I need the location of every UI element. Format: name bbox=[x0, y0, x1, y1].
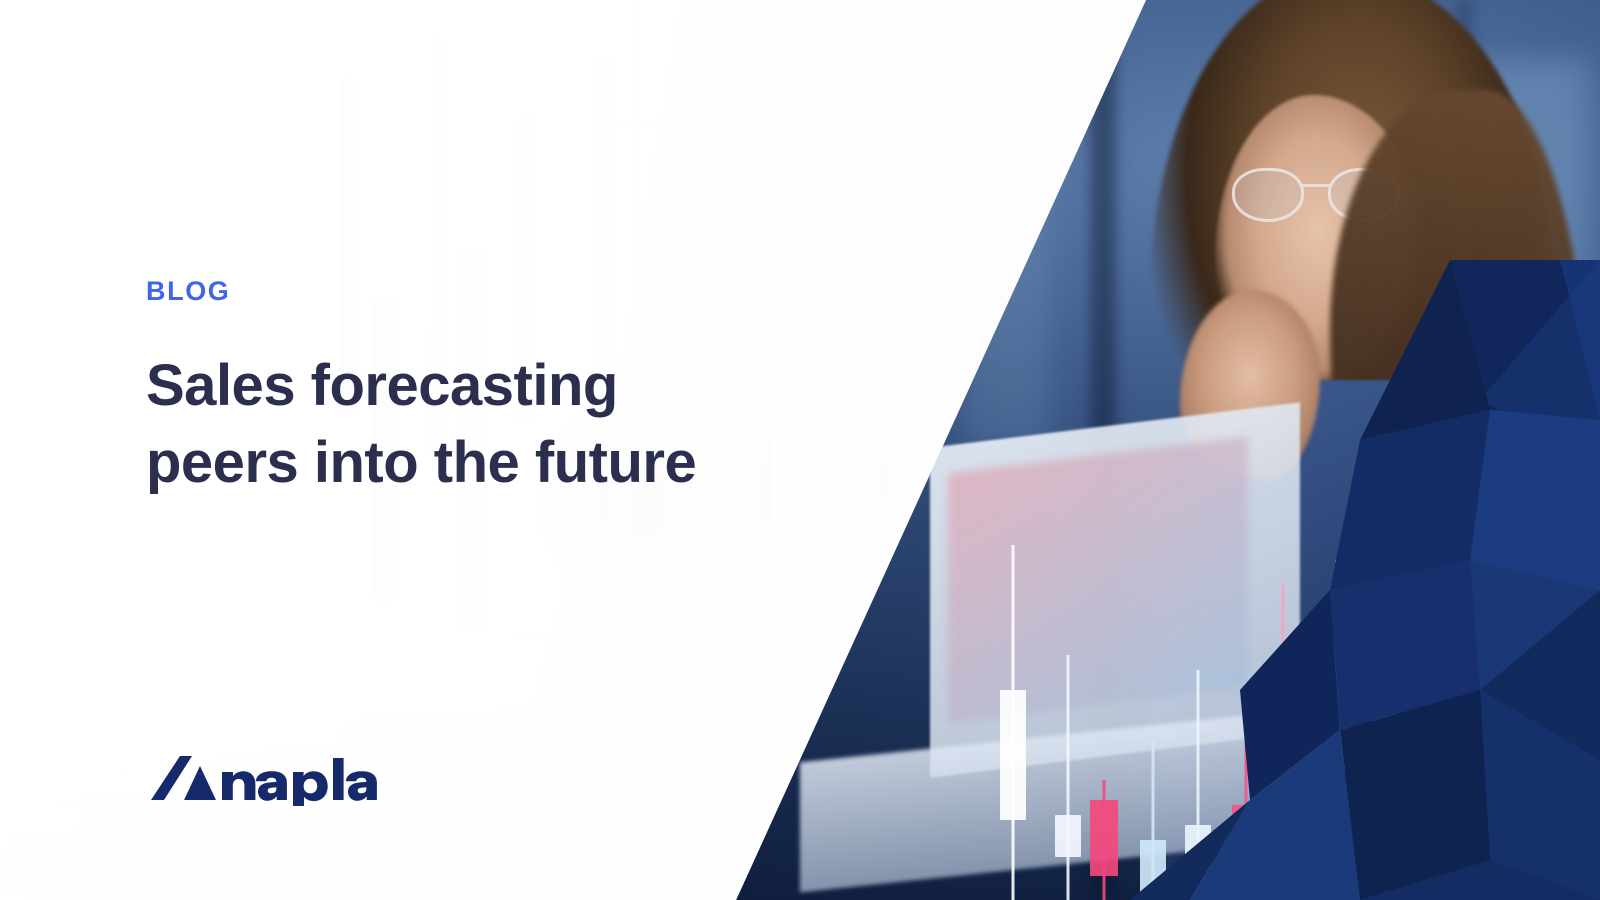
low-poly-geometric-overlay bbox=[1130, 260, 1600, 900]
category-label: BLOG bbox=[146, 276, 230, 307]
headline-line-1: Sales forecasting bbox=[146, 353, 618, 418]
anaplan-logo-svg bbox=[146, 750, 382, 806]
blog-hero-banner: BLOG Sales forecastingpeers into the fut… bbox=[0, 0, 1600, 900]
candlestick bbox=[1090, 0, 1118, 900]
page-title: Sales forecastingpeers into the future bbox=[146, 348, 846, 501]
headline-line-2: peers into the future bbox=[146, 430, 696, 495]
anaplan-logo[interactable]: Anaplan bbox=[146, 750, 382, 806]
